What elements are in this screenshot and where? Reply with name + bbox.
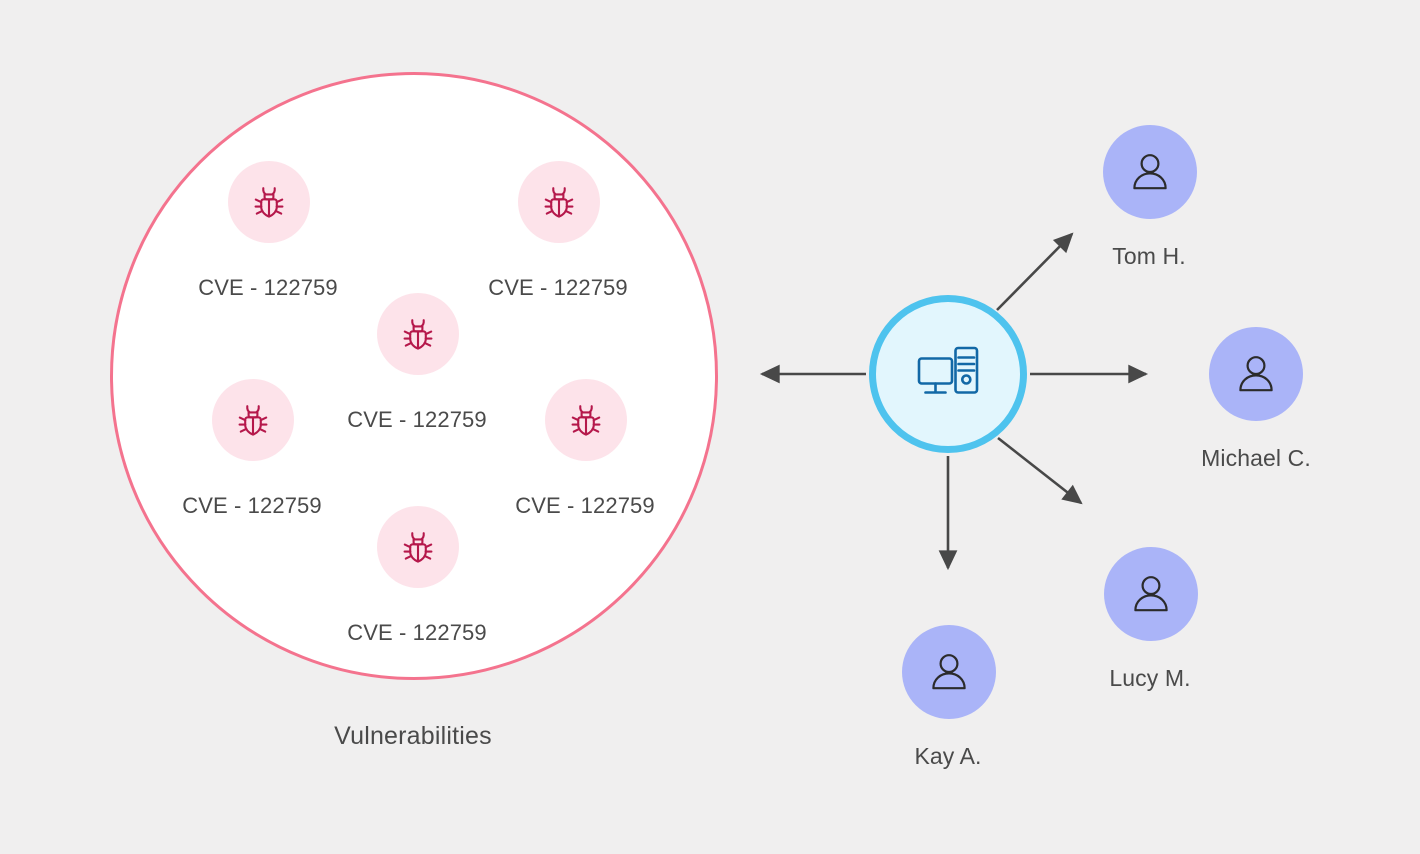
person-label: Lucy M. xyxy=(1109,665,1190,692)
person-node-tom-h[interactable] xyxy=(1103,125,1197,219)
vulnerability-node[interactable] xyxy=(518,161,600,243)
vulnerability-node[interactable] xyxy=(377,506,459,588)
cve-label: CVE - 122759 xyxy=(515,493,654,519)
computer-desktop-icon xyxy=(917,346,979,402)
cve-label: CVE - 122759 xyxy=(182,493,321,519)
vulnerability-node[interactable] xyxy=(377,293,459,375)
vulnerability-node[interactable] xyxy=(545,379,627,461)
edge-to-lucy xyxy=(998,438,1081,503)
person-label: Michael C. xyxy=(1201,445,1311,472)
vulnerabilities-group-label: Vulnerabilities xyxy=(0,722,826,751)
bug-icon xyxy=(399,315,437,353)
cve-label: CVE - 122759 xyxy=(488,275,627,301)
user-icon xyxy=(929,651,969,693)
user-icon xyxy=(1131,573,1171,615)
person-node-lucy-m[interactable] xyxy=(1104,547,1198,641)
vulnerability-node[interactable] xyxy=(212,379,294,461)
bug-icon xyxy=(399,528,437,566)
bug-icon xyxy=(250,183,288,221)
person-node-michael-c[interactable] xyxy=(1209,327,1303,421)
edge-to-tom xyxy=(997,234,1072,310)
user-icon xyxy=(1130,151,1170,193)
person-label: Kay A. xyxy=(914,743,981,770)
diagram-canvas: CVE - 122759CVE - 122759CVE - 122759CVE … xyxy=(0,0,1420,854)
workstation-node[interactable] xyxy=(869,295,1027,453)
person-label: Tom H. xyxy=(1112,243,1185,270)
vulnerabilities-cluster xyxy=(110,72,718,680)
bug-icon xyxy=(234,401,272,439)
person-node-kay-a[interactable] xyxy=(902,625,996,719)
cve-label: CVE - 122759 xyxy=(347,620,486,646)
bug-icon xyxy=(567,401,605,439)
cve-label: CVE - 122759 xyxy=(198,275,337,301)
user-icon xyxy=(1236,353,1276,395)
cve-label: CVE - 122759 xyxy=(347,407,486,433)
vulnerability-node[interactable] xyxy=(228,161,310,243)
bug-icon xyxy=(540,183,578,221)
